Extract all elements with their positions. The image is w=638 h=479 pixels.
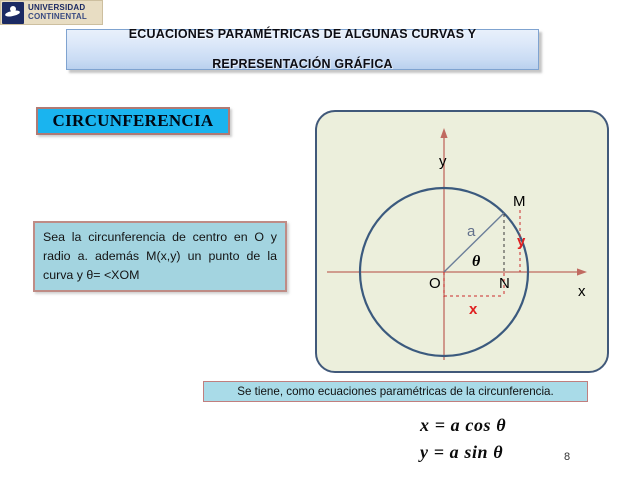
logo-line-2: CONTINENTAL [28, 13, 87, 21]
university-emblem-icon [2, 2, 24, 24]
x-axis-label: x [578, 284, 586, 299]
slide-root: UNIVERSIDAD CONTINENTAL ECUACIONES PARAM… [0, 0, 638, 479]
point-n-label: N [499, 276, 510, 291]
point-m-label: M [513, 194, 526, 209]
parametric-equations: x = a cos θ y = a sin θ [420, 412, 580, 466]
page-number: 8 [564, 451, 570, 463]
equation-x: x = a cos θ [420, 412, 580, 439]
caption-box: Se tiene, como ecuaciones paramétricas d… [203, 381, 588, 402]
y-projection-label: y [517, 234, 525, 249]
university-logo-text: UNIVERSIDAD CONTINENTAL [28, 4, 87, 20]
equation-y: y = a sin θ [420, 439, 580, 466]
origin-label: O [429, 276, 441, 291]
caption-text: Se tiene, como ecuaciones paramétricas d… [237, 385, 553, 398]
section-tag-label: CIRCUNFERENCIA [53, 111, 214, 131]
page-title-line-1: ECUACIONES PARAMÉTRICAS DE ALGUNAS CURVA… [129, 27, 477, 42]
circle-diagram-svg [315, 110, 613, 377]
angle-theta-label: θ [472, 254, 480, 269]
diagram-panel: y x O M N a θ y x [315, 110, 609, 373]
x-projection-label: x [469, 302, 477, 317]
description-text: Sea la circunferencia de centro en O y r… [43, 228, 277, 285]
y-axis-label: y [439, 154, 447, 169]
y-axis-arrow [440, 128, 447, 138]
university-logo: UNIVERSIDAD CONTINENTAL [0, 0, 103, 25]
slide-title-banner: ECUACIONES PARAMÉTRICAS DE ALGUNAS CURVA… [66, 29, 539, 70]
section-tag-circunferencia: CIRCUNFERENCIA [36, 107, 230, 135]
page-title-line-2: REPRESENTACIÓN GRÁFICA [129, 57, 477, 72]
x-axis-arrow [577, 268, 587, 275]
radius-label: a [467, 224, 475, 239]
description-box: Sea la circunferencia de centro en O y r… [33, 221, 287, 292]
page-title: ECUACIONES PARAMÉTRICAS DE ALGUNAS CURVA… [129, 27, 477, 72]
